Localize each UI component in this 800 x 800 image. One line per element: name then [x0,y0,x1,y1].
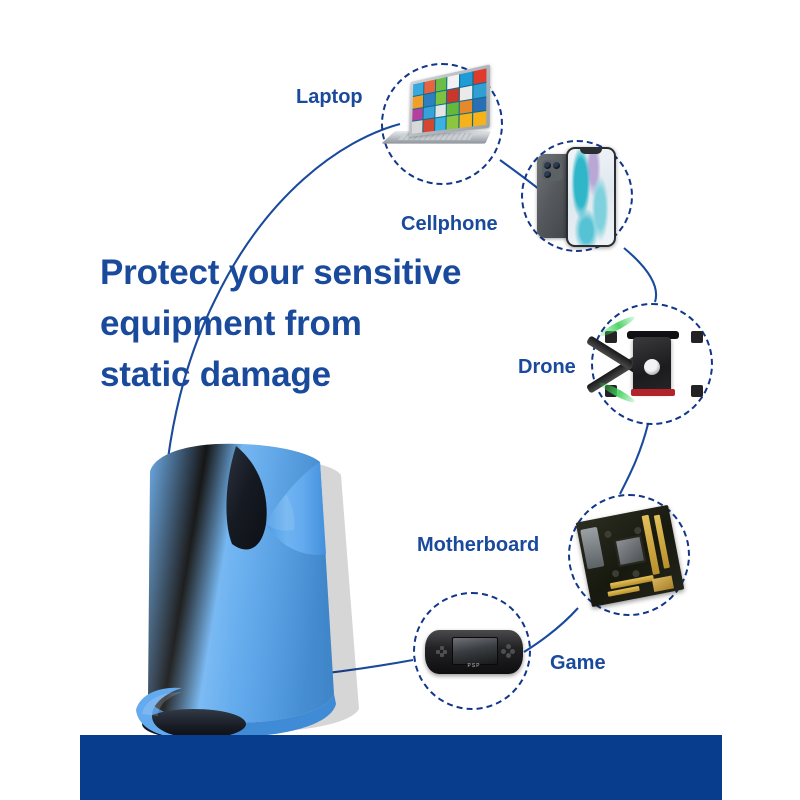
headline-line-1: Protect your sensitive [100,248,530,299]
laptop-icon [383,65,501,183]
node-label-laptop: Laptop [296,86,363,109]
node-laptop[interactable] [381,63,503,185]
node-label-game: Game [550,652,606,675]
node-drone[interactable] [591,303,713,425]
smartphone-icon [523,142,631,250]
footer-bar [80,735,722,800]
esd-mat-product-image [120,432,370,762]
promo-banner: Laptop Cellphone [0,0,800,800]
headline-line-2: equipment from [100,299,530,350]
node-label-cellphone: Cellphone [401,213,498,236]
node-game[interactable]: PSP [413,592,531,710]
drone-icon [593,305,711,423]
motherboard-icon [570,496,688,614]
node-cellphone[interactable] [521,140,633,252]
headline: Protect your sensitive equipment from st… [100,248,530,400]
node-label-motherboard: Motherboard [417,534,539,557]
handheld-console-icon: PSP [415,594,529,708]
headline-line-3: static damage [100,350,530,401]
node-motherboard[interactable] [568,494,690,616]
